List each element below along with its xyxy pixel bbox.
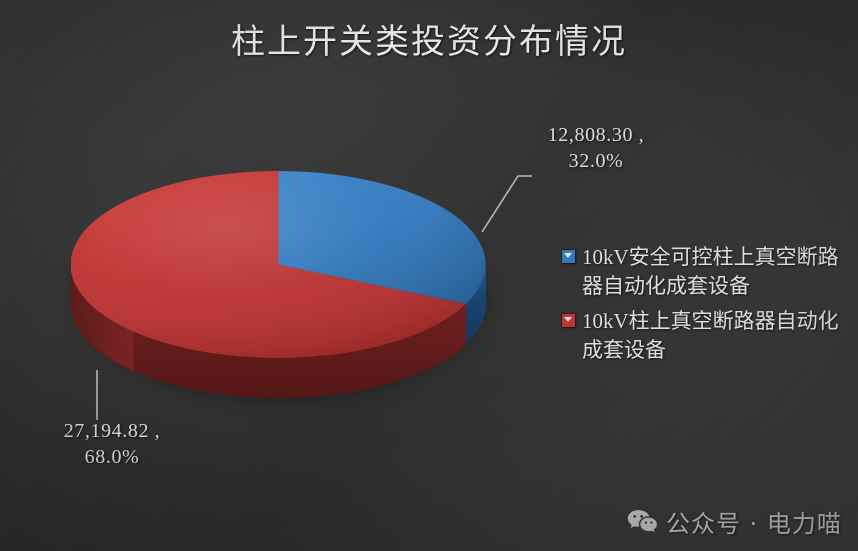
legend-item-0[interactable]: 10kV安全可控柱上真空断路器自动化成套设备: [562, 243, 854, 301]
wechat-icon: [627, 509, 657, 535]
data-label-blue-percent: 32.0%: [506, 148, 686, 174]
data-label-red-value: 27,194.82 ,: [22, 418, 202, 444]
data-label-red: 27,194.82 , 68.0%: [22, 418, 202, 470]
legend-swatch-red-icon: [562, 314, 575, 327]
data-label-blue: 12,808.30 , 32.0%: [506, 122, 686, 174]
legend-swatch-blue-icon: [562, 250, 575, 263]
slide-canvas: 柱上开关类投资分布情况: [0, 0, 858, 551]
watermark: 公众号 · 电力喵: [627, 504, 842, 539]
data-label-red-percent: 68.0%: [22, 444, 202, 470]
page-title: 柱上开关类投资分布情况: [0, 14, 858, 63]
watermark-text: 公众号 · 电力喵: [666, 504, 842, 539]
legend-item-0-label: 10kV安全可控柱上真空断路器自动化成套设备: [582, 243, 854, 301]
pie-top-face[interactable]: [71, 171, 486, 358]
chart-legend[interactable]: 10kV安全可控柱上真空断路器自动化成套设备 10kV柱上真空断路器自动化成套设…: [562, 243, 854, 371]
pie-chart[interactable]: [71, 171, 486, 398]
data-label-blue-value: 12,808.30 ,: [506, 122, 686, 148]
legend-item-1-label: 10kV柱上真空断路器自动化成套设备: [582, 307, 854, 365]
legend-item-1[interactable]: 10kV柱上真空断路器自动化成套设备: [562, 307, 854, 365]
